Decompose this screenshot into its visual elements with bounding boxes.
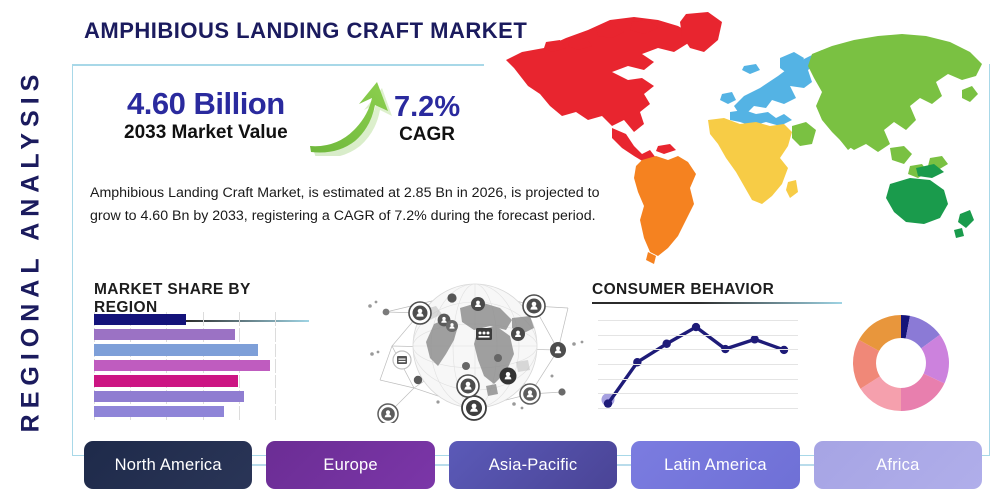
bar-chart-bar [94, 360, 270, 371]
bar-chart-market-share-by-region [94, 312, 276, 420]
map-region-asia [808, 34, 982, 152]
map-region-iceland [742, 64, 760, 74]
map-region-africa [708, 118, 792, 204]
line-chart-gridline [598, 393, 798, 394]
kpi-market-value-group: 4.60 Billion 2033 Market Value [124, 88, 288, 144]
side-label-text: REGIONAL ANALYSIS [17, 68, 46, 432]
region-tab-label: Africa [876, 456, 919, 475]
map-region-australia [886, 178, 948, 224]
donut-chart-plot [848, 310, 954, 416]
region-tab-connector [800, 464, 814, 466]
donut-chart-consumer-segments [848, 310, 954, 421]
globe-network-icon [362, 268, 594, 428]
region-tab-connector [252, 464, 266, 466]
side-label-regional-analysis: REGIONAL ANALYSIS [0, 0, 62, 500]
map-region-japan [962, 86, 978, 102]
line-chart-gridline [598, 379, 798, 380]
line-chart-data-point [633, 358, 641, 366]
map-region-south-america [634, 156, 696, 256]
line-chart-gridline [598, 364, 798, 365]
region-tab-europe[interactable]: Europe [266, 441, 434, 489]
kpi-row: 4.60 Billion 2033 Market Value 7.2% CAGR [84, 88, 504, 168]
map-region-new-zealand [954, 210, 974, 238]
bar-chart-bar [94, 375, 238, 386]
map-region-uk [720, 92, 736, 104]
bar-chart-bar [94, 391, 244, 402]
region-tab-connector [617, 464, 631, 466]
world-map-icon [492, 8, 992, 275]
line-chart-data-point [692, 323, 700, 331]
region-tab-latin-america[interactable]: Latin America [631, 441, 799, 489]
region-tab-africa[interactable]: Africa [814, 441, 982, 489]
kpi-market-value-label: 2033 Market Value [124, 122, 288, 144]
region-tab-north-america[interactable]: North America [84, 441, 252, 489]
map-region-greenland [680, 12, 722, 52]
map-region-madagascar [786, 180, 798, 198]
line-chart-gridline [598, 335, 798, 336]
kpi-cagr-label: CAGR [394, 124, 460, 146]
map-region-arabia [792, 122, 816, 146]
region-tab-connector [435, 464, 449, 466]
line-chart-plot [598, 312, 798, 420]
bar-chart-bar [94, 406, 224, 417]
line-chart-data-point [662, 340, 670, 348]
line-chart-gridline [598, 408, 798, 409]
page-title: AMPHIBIOUS LANDING CRAFT MARKET [84, 18, 527, 44]
bar-chart-bar [94, 314, 186, 325]
map-region-caribbean [656, 144, 676, 154]
line-chart-data-point [750, 335, 758, 343]
region-tab-label: North America [115, 456, 222, 475]
line-chart-gridline [598, 320, 798, 321]
content-frame-top-border [72, 64, 484, 66]
region-tab-label: Europe [323, 456, 377, 475]
region-tab-label: Asia-Pacific [489, 456, 578, 475]
line-chart-consumer-behavior [598, 312, 798, 420]
region-tabs: North AmericaEuropeAsia-PacificLatin Ame… [84, 441, 982, 489]
section-heading-consumer-behavior: CONSUMER BEHAVIOR [592, 281, 842, 304]
kpi-market-value: 4.60 Billion [124, 88, 288, 121]
kpi-cagr-value: 7.2% [394, 92, 460, 122]
line-chart-gridline [598, 349, 798, 350]
bar-chart-bar [94, 329, 235, 340]
line-chart-data-point [604, 399, 612, 407]
map-region-mexico-central [612, 128, 656, 162]
map-region-europe [734, 50, 822, 114]
growth-arrow-icon [306, 82, 392, 161]
bar-chart-bar [94, 344, 258, 355]
region-tab-asia-pacific[interactable]: Asia-Pacific [449, 441, 617, 489]
kpi-cagr-group: 7.2% CAGR [394, 92, 460, 146]
region-tab-label: Latin America [664, 456, 767, 475]
